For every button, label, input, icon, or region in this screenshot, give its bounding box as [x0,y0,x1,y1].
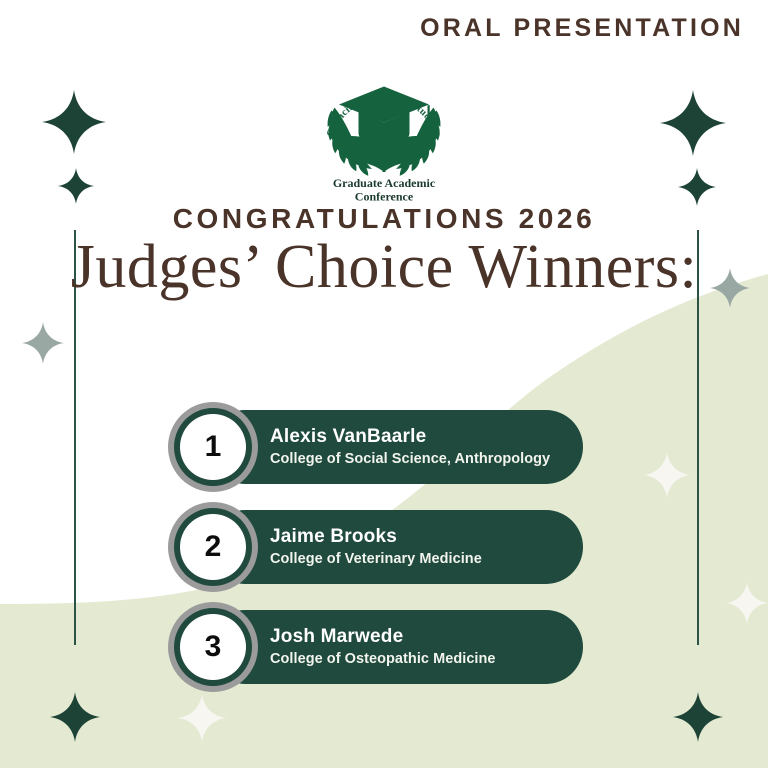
presentation-type-label: ORAL PRESENTATION [420,14,744,43]
winner-row: Jaime BrooksCollege of Veterinary Medici… [0,502,768,592]
logo-line-1: Graduate Academic [333,176,436,190]
sparkle-top-right-large [660,90,726,156]
winner-rank-number: 3 [205,632,222,662]
winner-medal: 3 [168,602,258,692]
winner-rank-number: 1 [205,432,222,462]
winner-pill: Josh MarwedeCollege of Osteopathic Medic… [208,610,583,684]
winner-medal-ring: 3 [174,608,252,686]
sparkle-top-left-large [42,90,106,154]
winner-college: College of Social Science, Anthropology [270,450,583,469]
winner-medal-center: 2 [180,514,246,580]
winner-medal-ring: 2 [174,508,252,586]
winner-college: College of Veterinary Medicine [270,550,583,569]
winner-medal-center: 3 [180,614,246,680]
winners-list: Alexis VanBaarleCollege of Social Scienc… [0,402,768,702]
winner-college: College of Osteopathic Medicine [270,650,583,669]
winner-rank-number: 2 [205,532,222,562]
winner-medal: 1 [168,402,258,492]
sparkle-top-left-small [58,168,94,204]
award-poster: ORAL PRESENTATION Council of Graduate St… [0,0,768,768]
winner-medal: 2 [168,502,258,592]
winner-name: Alexis VanBaarle [270,425,583,449]
logo-line-2: Conference [355,190,414,203]
winner-name: Jaime Brooks [270,525,583,549]
winner-row: Alexis VanBaarleCollege of Social Scienc… [0,402,768,492]
winner-medal-ring: 1 [174,408,252,486]
sparkle-top-right-small [678,168,716,206]
sparkle-mid-left-gray [22,322,64,364]
congratulations-heading: CONGRATULATIONS 2026 [0,203,768,235]
winner-pill: Alexis VanBaarleCollege of Social Scienc… [208,410,583,484]
page-title: Judges’ Choice Winners: [0,233,768,301]
winner-pill: Jaime BrooksCollege of Veterinary Medici… [208,510,583,584]
winner-name: Josh Marwede [270,625,583,649]
winner-row: Josh MarwedeCollege of Osteopathic Medic… [0,602,768,692]
graduate-academic-conference-logo: Council of Graduate Students [309,52,459,202]
winner-medal-center: 1 [180,414,246,480]
